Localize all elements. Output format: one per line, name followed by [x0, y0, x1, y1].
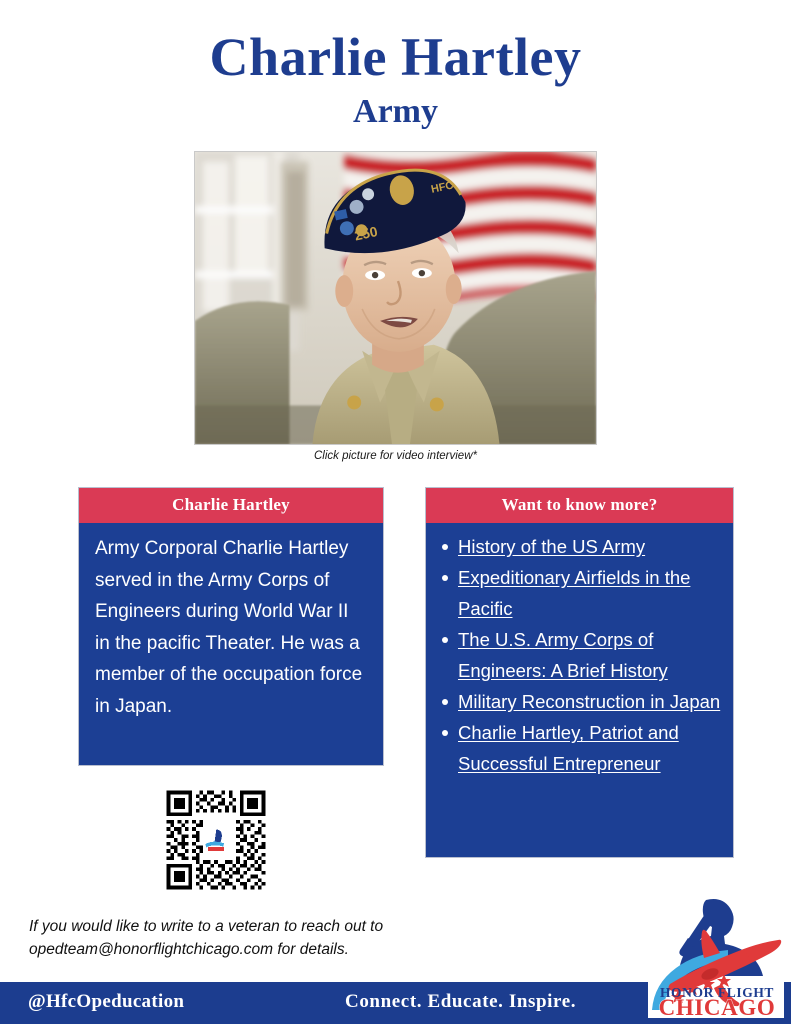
footer-tagline: Connect. Educate. Inspire. — [345, 991, 576, 1013]
resource-link-1[interactable]: History of the US Army — [458, 536, 645, 557]
bio-card-header: Charlie Hartley — [79, 488, 383, 523]
resource-link-2[interactable]: Expeditionary Airfields in the Pacific — [458, 567, 690, 619]
qr-code-image — [163, 787, 269, 893]
bio-card: Charlie Hartley Army Corporal Charlie Ha… — [78, 487, 384, 766]
page-title-block: Charlie Hartley Army — [0, 28, 791, 132]
list-item: Charlie Hartley, Patriot and Successful … — [436, 717, 723, 779]
list-item: History of the US Army — [436, 531, 723, 562]
resources-card-header: Want to know more? — [426, 488, 733, 523]
qr-center-logo — [203, 827, 229, 853]
honor-flight-chicago-logo[interactable]: HONOR FLIGHT CHICAGO — [648, 898, 784, 1018]
page-title: Charlie Hartley — [0, 28, 791, 86]
resource-links-list: History of the US Army Expeditionary Air… — [426, 523, 733, 789]
resource-link-5[interactable]: Charlie Hartley, Patriot and Successful … — [458, 722, 679, 774]
qr-code[interactable] — [163, 787, 269, 893]
resource-link-3[interactable]: The U.S. Army Corps of Engineers: A Brie… — [458, 629, 668, 681]
logo-line2: CHICAGO — [659, 995, 776, 1018]
list-item: The U.S. Army Corps of Engineers: A Brie… — [436, 624, 723, 686]
photo-caption: Click picture for video interview* — [194, 450, 597, 462]
logo-image: HONOR FLIGHT CHICAGO — [648, 898, 784, 1018]
bio-card-body: Army Corporal Charlie Hartley served in … — [79, 523, 383, 732]
branch-subtitle: Army — [0, 92, 791, 132]
list-item: Military Reconstruction in Japan — [436, 686, 723, 717]
veteran-portrait-image: 250 HFC — [195, 152, 596, 444]
list-item: Expeditionary Airfields in the Pacific — [436, 562, 723, 624]
resources-card: Want to know more? History of the US Arm… — [425, 487, 734, 858]
veteran-photo[interactable]: 250 HFC — [194, 151, 597, 445]
contact-note: If you would like to write to a veteran … — [29, 915, 499, 961]
social-handle[interactable]: @HfcOpeducation — [28, 991, 184, 1013]
resource-link-4[interactable]: Military Reconstruction in Japan — [458, 691, 720, 712]
